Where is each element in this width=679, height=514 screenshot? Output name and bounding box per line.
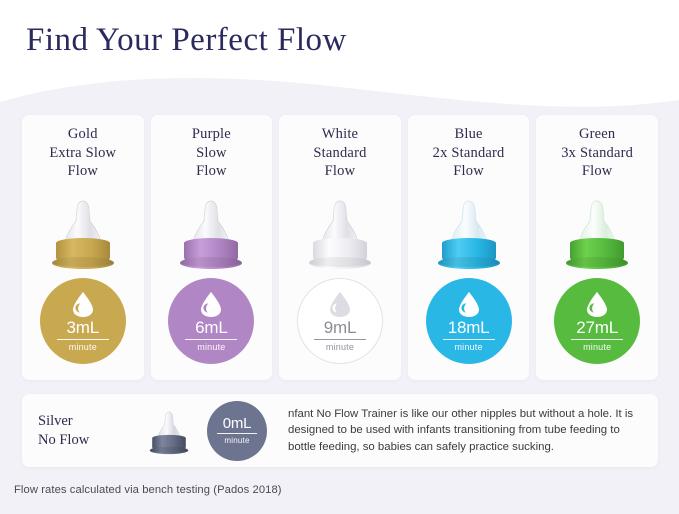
card-heading-line1: Purple xyxy=(151,125,273,144)
flow-rate-unit: minute xyxy=(454,340,482,352)
page-title: Find Your Perfect Flow xyxy=(26,22,347,59)
flow-rate-unit: minute xyxy=(224,434,249,445)
droplet-icon xyxy=(71,291,95,318)
flow-card-blue[interactable]: Blue 2x Standard Flow xyxy=(408,115,530,380)
card-heading-line1: Gold xyxy=(22,125,144,144)
bottle-nipple-icon xyxy=(132,398,206,464)
flow-card-gold[interactable]: Gold Extra Slow Flow xyxy=(22,115,144,380)
flow-circle-white: 9mL minute xyxy=(297,278,383,364)
droplet-icon xyxy=(457,291,481,318)
flow-rate-unit: minute xyxy=(326,340,354,352)
card-heading: Gold Extra Slow Flow xyxy=(22,115,144,181)
no-flow-label: Silver No Flow xyxy=(22,412,132,450)
card-heading-line3: Flow xyxy=(408,162,530,181)
flow-rate-value: 6mL xyxy=(195,319,227,339)
bottle-nipple-icon xyxy=(22,187,144,275)
card-heading: Blue 2x Standard Flow xyxy=(408,115,530,181)
card-heading-line2: Extra Slow xyxy=(22,144,144,163)
flow-circle-wrap: 6mL minute xyxy=(151,278,273,364)
card-heading-line3: Flow xyxy=(279,162,401,181)
flow-rate-unit: minute xyxy=(69,340,97,352)
no-flow-label-line2: No Flow xyxy=(38,431,132,450)
droplet-icon xyxy=(585,291,609,318)
no-flow-description: nfant No Flow Trainer is like our other … xyxy=(268,406,658,456)
flow-rate-value: 9mL xyxy=(324,319,356,339)
card-heading-line2: 2x Standard xyxy=(408,144,530,163)
flow-circle-wrap: 27mL minute xyxy=(536,278,658,364)
flow-circle-wrap: 18mL minute xyxy=(408,278,530,364)
bottle-nipple-icon xyxy=(151,187,273,275)
footnote: Flow rates calculated via bench testing … xyxy=(14,484,282,496)
droplet-icon xyxy=(328,291,352,318)
card-heading-line2: 3x Standard xyxy=(536,144,658,163)
card-heading-line3: Flow xyxy=(151,162,273,181)
card-heading: Green 3x Standard Flow xyxy=(536,115,658,181)
flow-circle-wrap: 0mL minute xyxy=(206,401,268,461)
bottle-nipple-icon xyxy=(279,187,401,275)
card-heading: Purple Slow Flow xyxy=(151,115,273,181)
flow-circle-gold: 3mL minute xyxy=(40,278,126,364)
no-flow-label-line1: Silver xyxy=(38,412,132,431)
flow-rate-value: 27mL xyxy=(576,319,618,339)
flow-card-green[interactable]: Green 3x Standard Flow xyxy=(536,115,658,380)
flow-rate-value: 3mL xyxy=(67,319,99,339)
card-heading: White Standard Flow xyxy=(279,115,401,181)
no-flow-card[interactable]: Silver No Flow xyxy=(22,394,658,467)
flow-rate-unit: minute xyxy=(583,340,611,352)
flow-circle-silver: 0mL minute xyxy=(207,401,267,461)
infographic-page: Find Your Perfect Flow Gold Extra Slow F… xyxy=(0,0,679,514)
flow-rate-value: 18mL xyxy=(448,319,490,339)
bottle-nipple-icon xyxy=(408,187,530,275)
flow-card-white[interactable]: White Standard Flow xyxy=(279,115,401,380)
card-heading-line3: Flow xyxy=(536,162,658,181)
card-heading-line1: Green xyxy=(536,125,658,144)
card-heading-line2: Standard xyxy=(279,144,401,163)
flow-circle-wrap: 9mL minute xyxy=(279,278,401,364)
flow-card-purple[interactable]: Purple Slow Flow xyxy=(151,115,273,380)
droplet-icon xyxy=(199,291,223,318)
flow-rate-value: 0mL xyxy=(223,416,252,433)
flow-circle-purple: 6mL minute xyxy=(168,278,254,364)
flow-circle-green: 27mL minute xyxy=(554,278,640,364)
bottle-nipple-icon xyxy=(536,187,658,275)
card-heading-line1: Blue xyxy=(408,125,530,144)
card-heading-line1: White xyxy=(279,125,401,144)
flow-circle-blue: 18mL minute xyxy=(426,278,512,364)
card-heading-line2: Slow xyxy=(151,144,273,163)
flow-circle-wrap: 3mL minute xyxy=(22,278,144,364)
flow-rate-unit: minute xyxy=(197,340,225,352)
flow-card-row: Gold Extra Slow Flow xyxy=(22,115,658,380)
card-heading-line3: Flow xyxy=(22,162,144,181)
